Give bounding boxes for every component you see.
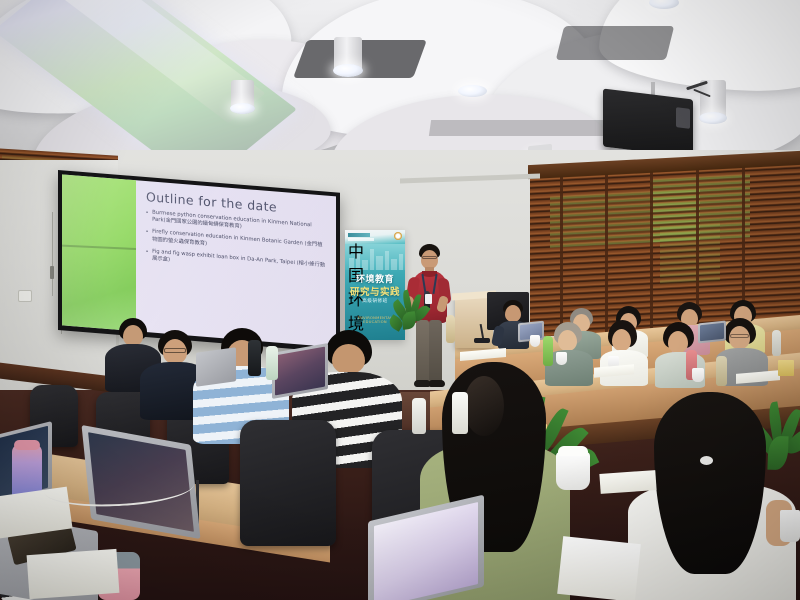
water-bottle — [248, 340, 261, 376]
notebook-paper[interactable] — [27, 549, 120, 599]
water-bottle — [266, 346, 278, 380]
downlight — [699, 112, 727, 124]
tea-cup — [692, 368, 704, 382]
window-foliage-glow — [650, 174, 750, 243]
office-chair[interactable] — [240, 420, 336, 546]
blind-divider — [650, 171, 653, 331]
audience-person — [628, 392, 796, 600]
water-bottle — [412, 398, 426, 434]
banner-building — [370, 249, 374, 270]
person-head — [558, 330, 577, 351]
banner-building — [399, 254, 403, 270]
water-bottle — [452, 392, 468, 434]
wall-outlet — [18, 290, 32, 302]
person-head — [668, 331, 688, 353]
slide-accent-panel — [62, 174, 136, 331]
person-head — [332, 344, 365, 374]
banner-logo — [348, 233, 370, 237]
projection-screen-surface: Outline for the date • Burmese python co… — [62, 174, 336, 347]
ceiling-recess-shadow — [556, 26, 674, 60]
notebook-paper[interactable] — [599, 470, 656, 494]
projection-screen: Outline for the date • Burmese python co… — [58, 170, 340, 353]
slide-content: Outline for the date • Burmese python co… — [136, 180, 336, 347]
banner-building — [376, 256, 383, 270]
bullet-marker-icon: • — [146, 209, 148, 224]
tea-cup — [780, 510, 800, 542]
banner-building — [385, 251, 389, 270]
person-hair-highlight — [464, 376, 504, 436]
bullet-marker-icon: • — [146, 248, 148, 263]
water-bottle — [446, 315, 455, 343]
bullet-marker-icon: • — [146, 228, 148, 243]
blind-divider — [560, 175, 563, 335]
presenter-glasses-icon — [422, 256, 437, 259]
notebook-paper[interactable] — [557, 536, 641, 600]
water-bottle — [772, 330, 781, 356]
person-hair-long — [654, 392, 766, 574]
conference-room-photo: Outline for the date • Burmese python co… — [0, 0, 800, 600]
ceiling — [0, 0, 800, 175]
moderator-head — [505, 305, 521, 322]
gooseneck-microphone-base — [474, 338, 490, 343]
tea-cup — [556, 452, 590, 490]
water-bottle — [716, 356, 727, 386]
projector-lens — [676, 107, 690, 129]
downlight — [333, 64, 363, 77]
tea-cup — [530, 335, 540, 347]
person-glasses-icon — [164, 348, 186, 353]
banner-building — [391, 259, 397, 270]
downlight — [230, 103, 255, 114]
audience-laptop[interactable] — [196, 347, 236, 387]
ceiling-recess-shadow — [429, 120, 631, 136]
blind-cord — [52, 212, 53, 296]
person-glasses-icon — [730, 334, 749, 338]
banner-logo-text: 中国环境科学学会 — [348, 238, 374, 241]
plant-leaf — [401, 311, 417, 330]
tea-cup-lid — [558, 446, 588, 456]
tissue-box — [778, 360, 794, 376]
window-foliage-glow — [550, 188, 700, 248]
banner-seal-icon — [394, 232, 402, 240]
window-foliage-glow — [660, 222, 720, 285]
person-head — [612, 329, 631, 351]
blind-divider — [605, 173, 608, 333]
bottle-cap — [14, 440, 40, 450]
audience-laptop-screen — [700, 323, 724, 342]
hair-tie — [700, 456, 713, 465]
downlight — [458, 85, 487, 97]
blind-cord-weight — [50, 266, 54, 279]
